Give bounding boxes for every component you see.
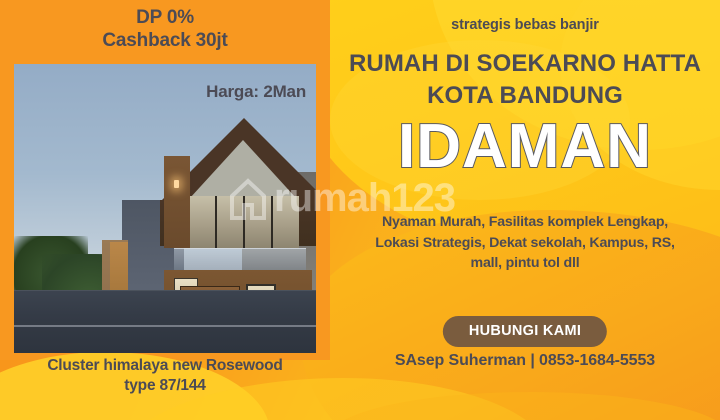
ad-copy-panel: strategis bebas banjir RUMAH DI SOEKARNO… — [330, 0, 720, 420]
cluster-caption: Cluster himalaya new Rosewood type 87/14… — [0, 356, 330, 396]
cluster-name: Cluster himalaya new Rosewood — [0, 356, 330, 376]
house-triangular-window — [190, 140, 296, 198]
property-ad-banner: DP 0% Cashback 30jt — [0, 0, 720, 420]
window-mullion — [215, 196, 217, 248]
promo-dp-text: DP 0% — [0, 6, 330, 29]
kicker-text: strategis bebas banjir — [330, 17, 720, 33]
road-marking — [14, 325, 316, 327]
promo-block: DP 0% Cashback 30jt — [0, 6, 330, 52]
cluster-type: type 87/144 — [0, 376, 330, 396]
headline-line1: RUMAH DI SOEKARNO HATTA — [324, 50, 720, 78]
house-wood-cladding — [164, 156, 190, 248]
wall-lamp — [174, 180, 179, 188]
description-line-3: mall, pintu tol dll — [338, 253, 712, 274]
contact-us-button[interactable]: HUBUNGI KAMI — [443, 316, 607, 347]
brand-title: IDAMAN — [330, 116, 720, 178]
promo-cashback-text: Cashback 30jt — [0, 29, 330, 52]
description-line-1: Nyaman Murah, Fasilitas komplek Lengkap, — [338, 212, 712, 233]
agent-contact-text: SAsep Suherman | 0853-1684-5553 — [330, 352, 720, 370]
window-mullion — [271, 196, 273, 248]
house-upper-window — [187, 196, 299, 248]
description-block: Nyaman Murah, Fasilitas komplek Lengkap,… — [338, 212, 712, 274]
headline-line2: KOTA BANDUNG — [330, 82, 720, 110]
driveway-road — [14, 291, 316, 353]
description-line-2: Lokasi Strategis, Dekat sekolah, Kampus,… — [338, 233, 712, 254]
price-label: Harga: 2Man — [206, 82, 306, 102]
property-photo: Harga: 2Man — [14, 64, 316, 353]
window-mullion — [243, 196, 245, 248]
